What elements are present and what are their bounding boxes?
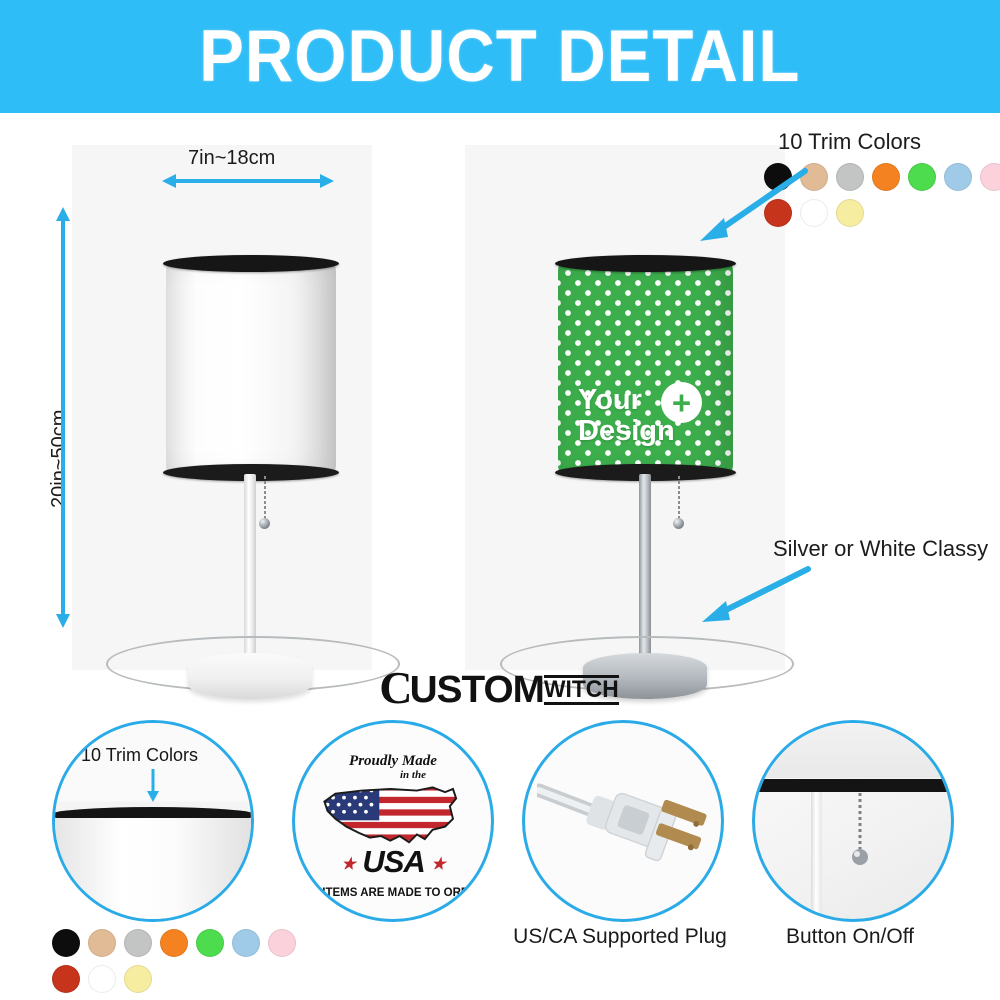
trim-color-swatch-light-blue[interactable]	[232, 929, 260, 957]
power-plug-icon	[537, 766, 717, 876]
base-finish-label: Silver or White Classy	[773, 536, 988, 562]
trim-bar	[752, 779, 954, 792]
usa-word-text: USA	[362, 844, 423, 879]
design-line-1: Your	[578, 384, 642, 416]
pull-chain[interactable]	[264, 476, 266, 520]
trim-color-swatch-orange[interactable]	[160, 929, 188, 957]
width-measurement-label: 7in~18cm	[188, 147, 275, 170]
trim-callout-arrow	[690, 163, 810, 243]
product-detail-page: PRODUCT DETAIL	[0, 0, 1000, 1000]
feature-circle-plug	[522, 720, 724, 922]
trim-color-swatch-black[interactable]	[52, 929, 80, 957]
trim-color-swatch-orange[interactable]	[872, 163, 900, 191]
star-icon-left: ★	[341, 856, 354, 873]
trim-color-swatch-green[interactable]	[908, 163, 936, 191]
trim-color-swatch-yellow[interactable]	[124, 965, 152, 993]
lamp-pole	[811, 792, 822, 922]
product-stage: Your Design + 7in~18cm 20in~50cm	[0, 113, 1000, 658]
trim-color-swatch-gray[interactable]	[124, 929, 152, 957]
header-banner: PRODUCT DETAIL	[0, 0, 1000, 113]
feature-caption-plug: US/CA Supported Plug	[492, 925, 748, 949]
trim-color-swatch-pink[interactable]	[980, 163, 1000, 191]
logo-secondary-text: WITCH	[544, 675, 619, 705]
trim-color-swatch-green[interactable]	[196, 929, 224, 957]
usa-badge-word: ★ USA ★	[295, 844, 491, 880]
feature-circle-trim-colors: 10 Trim Colors	[52, 720, 254, 922]
pull-chain-bead[interactable]	[259, 518, 270, 529]
bottom-trim-color-swatches[interactable]	[52, 929, 302, 993]
pull-chain-icon[interactable]	[847, 793, 873, 885]
pull-chain-bead[interactable]	[673, 518, 684, 529]
trim-down-arrow-icon	[143, 769, 163, 803]
trim-color-swatch-light-blue[interactable]	[944, 163, 972, 191]
usa-badge-subtext: ALL ITEMS ARE MADE TO ORDER!	[295, 887, 491, 899]
trim-color-swatch-tan[interactable]	[88, 929, 116, 957]
brand-logo: CUSTOMWITCH	[0, 666, 1000, 712]
lamp-white	[120, 168, 400, 673]
lampshade-white	[166, 263, 336, 473]
logo-primary-text: USTOM	[409, 669, 543, 712]
trim-ring-top	[163, 255, 339, 272]
trim-colors-title: 10 Trim Colors	[778, 129, 921, 155]
trim-ring-top	[555, 255, 736, 272]
trim-color-swatch-gray[interactable]	[836, 163, 864, 191]
trim-color-swatch-white[interactable]	[88, 965, 116, 993]
logo-c-mark: C	[379, 666, 410, 710]
base-finish-arrow	[690, 563, 820, 623]
usa-badge: Proudly Made in the	[295, 723, 491, 919]
feature-circle-switch	[752, 720, 954, 922]
star-icon-right: ★	[431, 856, 444, 873]
feature-trim-colors-label: 10 Trim Colors	[81, 745, 198, 766]
feature-row: 10 Trim Colors Proudly Made in the	[0, 713, 1000, 1000]
pull-chain[interactable]	[678, 476, 680, 520]
height-measurement-label: 20in~50cm	[48, 410, 71, 508]
lampshade-green: Your Design +	[558, 263, 733, 473]
trim-color-swatch-red[interactable]	[52, 965, 80, 993]
your-design-text: Your Design	[558, 385, 733, 447]
page-title: PRODUCT DETAIL	[199, 20, 800, 93]
add-design-plus-icon[interactable]: +	[661, 382, 702, 423]
design-line-2: Design	[578, 415, 675, 447]
trim-color-swatch-yellow[interactable]	[836, 199, 864, 227]
usa-tagline-line-1: Proudly Made	[349, 753, 437, 769]
feature-circle-made-in-usa: Proudly Made in the	[292, 720, 494, 922]
trim-color-swatch-pink[interactable]	[268, 929, 296, 957]
lampshade-surface	[166, 263, 336, 473]
feature-caption-switch: Button On/Off	[722, 925, 978, 949]
